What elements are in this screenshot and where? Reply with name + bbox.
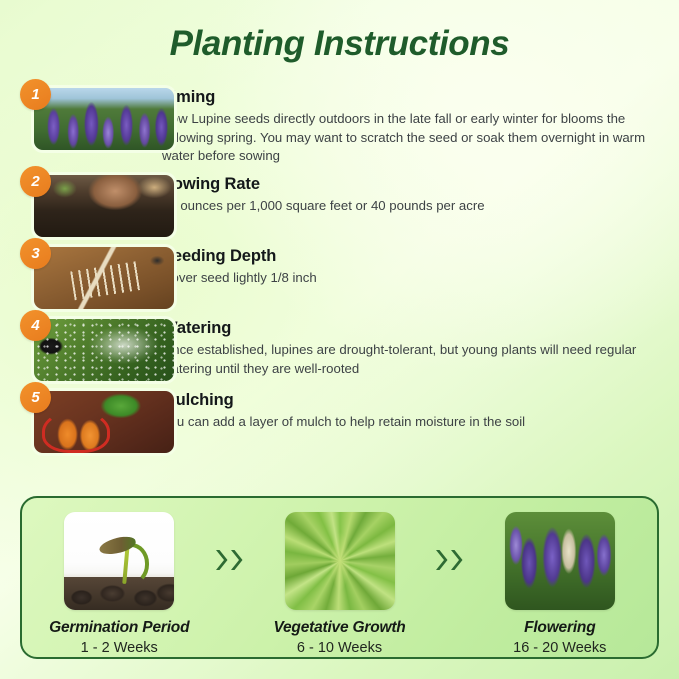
step-text: Mulching You can add a layer of mulch to… — [150, 391, 679, 432]
lupine-field-photo — [34, 88, 174, 150]
step-body: Sow Lupine seeds directly outdoors in th… — [162, 110, 665, 166]
rake-on-soil-art — [34, 247, 174, 309]
hand-sowing-seeds-photo — [34, 175, 174, 237]
seedling-sprout-photo — [64, 512, 174, 610]
rake-on-soil-photo — [34, 247, 174, 309]
timeline-stage-germination: Germination Period 1 - 2 Weeks — [34, 512, 204, 656]
list-item: 4 Watering Once established, lupines are… — [0, 319, 679, 387]
water-droplets-detail — [34, 319, 174, 381]
stage-duration: 1 - 2 Weeks — [34, 640, 204, 656]
lupine-field-art — [34, 88, 174, 150]
gloved-hands-mulch-photo — [34, 391, 174, 453]
double-chevron-right-icon — [204, 512, 254, 572]
page-title: Planting Instructions — [0, 24, 679, 64]
double-chevron-right-icon — [425, 512, 475, 572]
step-thumbnail-wrap: 2 — [0, 175, 150, 237]
lupine-foliage-photo — [285, 512, 395, 610]
garden-hose-detail — [42, 410, 110, 453]
step-text: Seeding Depth Cover seed lightly 1/8 inc… — [150, 247, 679, 288]
step-body: Cover seed lightly 1/8 inch — [162, 269, 665, 288]
step-heading: Mulching — [162, 391, 665, 410]
step-body: You can add a layer of mulch to help ret… — [162, 413, 665, 432]
step-heading: Timing — [162, 88, 665, 107]
stage-label: Flowering — [475, 619, 645, 637]
watering-spray-art — [34, 319, 174, 381]
step-heading: Sowing Rate — [162, 175, 665, 194]
step-number-badge: 3 — [20, 238, 51, 269]
watering-spray-photo — [34, 319, 174, 381]
list-item: 3 Seeding Depth Cover seed lightly 1/8 i… — [0, 247, 679, 315]
step-body: Once established, lupines are drought-to… — [162, 341, 665, 378]
stage-duration: 6 - 10 Weeks — [254, 640, 424, 656]
step-thumbnail-wrap: 4 — [0, 319, 150, 381]
step-body: 15 ounces per 1,000 square feet or 40 po… — [162, 197, 665, 216]
steps-list: 1 Timing Sow Lupine seeds directly outdo… — [0, 88, 679, 463]
planting-instructions-infographic: Planting Instructions 1 Timing Sow Lupin… — [0, 0, 679, 679]
step-number-badge: 1 — [20, 79, 51, 110]
timeline-stage-flowering: Flowering 16 - 20 Weeks — [475, 512, 645, 656]
stage-label: Vegetative Growth — [254, 619, 424, 637]
list-item: 1 Timing Sow Lupine seeds directly outdo… — [0, 88, 679, 171]
list-item: 2 Sowing Rate 15 ounces per 1,000 square… — [0, 175, 679, 243]
soil-rocks-detail — [64, 577, 174, 610]
timeline-stage-vegetative: Vegetative Growth 6 - 10 Weeks — [254, 512, 424, 656]
lupine-blooms-photo — [505, 512, 615, 610]
stage-duration: 16 - 20 Weeks — [475, 640, 645, 656]
step-thumbnail-wrap: 3 — [0, 247, 150, 309]
list-item: 5 Mulching You can add a layer of mulch … — [0, 391, 679, 459]
step-thumbnail-wrap: 5 — [0, 391, 150, 453]
step-number-badge: 2 — [20, 166, 51, 197]
step-number-badge: 5 — [20, 382, 51, 413]
growth-timeline-panel: Germination Period 1 - 2 Weeks Vegetativ… — [20, 496, 659, 659]
step-thumbnail-wrap: 1 — [0, 88, 150, 150]
step-text: Sowing Rate 15 ounces per 1,000 square f… — [150, 175, 679, 216]
step-text: Timing Sow Lupine seeds directly outdoor… — [150, 88, 679, 166]
step-heading: Watering — [162, 319, 665, 338]
step-text: Watering Once established, lupines are d… — [150, 319, 679, 378]
step-number-badge: 4 — [20, 310, 51, 341]
gloved-hands-mulch-art — [34, 391, 174, 453]
hand-sowing-art — [34, 175, 174, 237]
stage-label: Germination Period — [34, 619, 204, 637]
step-heading: Seeding Depth — [162, 247, 665, 266]
rake-teeth-detail — [70, 260, 144, 299]
